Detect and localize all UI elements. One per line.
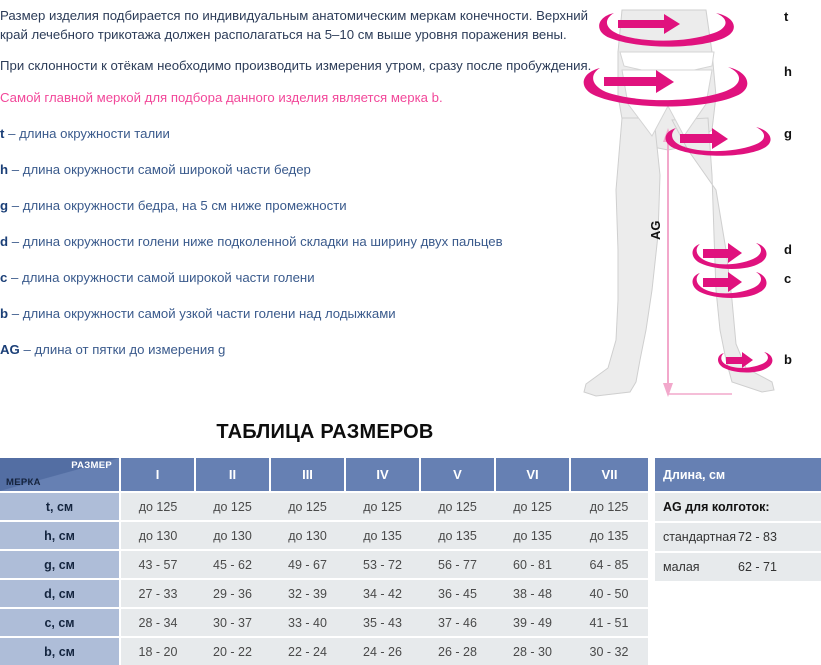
cell: до 135 [345,521,420,550]
column-header-4: IV [345,458,420,492]
intro-paragraph-1: Размер изделия подбирается по индивидуал… [0,0,600,44]
highlight-note: Самой главной меркой для подбора данного… [0,89,600,108]
legend-item-g: g – длина окружности бедра, на 5 см ниже… [0,198,600,214]
legend-key-g: g [0,198,8,213]
column-header-3: III [270,458,345,492]
size-chart-page: Размер изделия подбирается по индивидуал… [0,0,821,649]
column-header-6: VI [495,458,570,492]
length-section-label: AG для колготок: [655,492,821,522]
column-header-2: II [195,458,270,492]
length-row-value-small: 62 - 71 [738,552,821,581]
cell: 43 - 57 [120,550,195,579]
cell: 29 - 36 [195,579,270,608]
length-row-label-small: малая [655,552,738,581]
diagram-label-d: d [784,242,792,257]
length-table-header: Длина, см [655,458,821,492]
cell: 53 - 72 [345,550,420,579]
legend-item-ag: AG – длина от пятки до измерения g [0,342,600,358]
legend-text-b: длина окружности самой узкой части голен… [23,306,396,321]
row-label-c: c, см [0,608,120,637]
legend-item-b: b – длина окружности самой узкой части г… [0,306,600,322]
cell: 20 - 22 [195,637,270,665]
cell: до 135 [570,521,648,550]
cell: 24 - 26 [345,637,420,665]
band-c [693,272,767,298]
page-title: ТАБЛИЦА РАЗМЕРОВ [0,421,650,444]
cell: 26 - 28 [420,637,495,665]
cell: 18 - 20 [120,637,195,665]
legend-dash: – [12,162,19,177]
legend-key-c: c [0,270,7,285]
diagram-label-t: t [784,9,788,24]
legend-key-t: t [0,126,4,141]
cell: 45 - 62 [195,550,270,579]
table-row: c, см 28 - 34 30 - 37 33 - 40 35 - 43 37… [0,608,648,637]
cell: до 125 [420,492,495,521]
diagram-label-h: h [784,64,792,79]
diagram-label-b: b [784,352,792,367]
row-label-g: g, см [0,550,120,579]
cell: до 135 [495,521,570,550]
band-d [693,243,767,269]
leg-figure-svg [556,0,821,415]
leg-measurement-diagram: t h g d c b AG [556,0,821,415]
cell: до 130 [195,521,270,550]
corner-size-label: РАЗМЕР [71,460,112,471]
legend-item-t: t – длина окружности талии [0,126,600,142]
legend-text-h: длина окружности самой широкой части бед… [23,162,311,177]
table-row: b, см 18 - 20 20 - 22 22 - 24 24 - 26 26… [0,637,648,665]
measurement-legend: t – длина окружности талии h – длина окр… [0,126,600,358]
cell: 41 - 51 [570,608,648,637]
length-table-header-row: Длина, см [655,458,821,492]
cell: 56 - 77 [420,550,495,579]
size-table: РАЗМЕР МЕРКА I II III IV V VI VII t, см … [0,458,648,665]
table-row: h, см до 130 до 130 до 130 до 135 до 135… [0,521,648,550]
cell: 40 - 50 [570,579,648,608]
cell: до 130 [270,521,345,550]
cell: до 125 [195,492,270,521]
length-table-row: стандартная 72 - 83 [655,522,821,552]
cell: 32 - 39 [270,579,345,608]
legend-key-b: b [0,306,8,321]
row-label-b: b, см [0,637,120,665]
legend-text-d: длина окружности голени ниже подколенной… [23,234,503,249]
intro-paragraph-2: При склонности к отёкам необходимо произ… [0,57,600,76]
legend-key-d: d [0,234,8,249]
corner-header-cell: РАЗМЕР МЕРКА [0,458,120,492]
table-row: d, см 27 - 33 29 - 36 32 - 39 34 - 42 36… [0,579,648,608]
column-header-1: I [120,458,195,492]
legend-item-h: h – длина окружности самой широкой части… [0,162,600,178]
table-header-row: РАЗМЕР МЕРКА I II III IV V VI VII [0,458,648,492]
legend-dash: – [8,126,15,141]
column-header-5: V [420,458,495,492]
diagram-label-ag: AG [648,221,663,241]
length-table: Длина, см AG для колготок: стандартная 7… [655,458,821,581]
legend-item-d: d – длина окружности голени ниже подколе… [0,234,600,250]
cell: до 125 [120,492,195,521]
table-row: t, см до 125 до 125 до 125 до 125 до 125… [0,492,648,521]
cell: 37 - 46 [420,608,495,637]
cell: до 125 [570,492,648,521]
legend-item-c: c – длина окружности самой широкой части… [0,270,600,286]
legend-text-t: длина окружности талии [19,126,170,141]
cell: до 135 [420,521,495,550]
text-column: Размер изделия подбирается по индивидуал… [0,0,600,358]
cell: 35 - 43 [345,608,420,637]
cell: 28 - 30 [495,637,570,665]
legend-dash: – [12,306,19,321]
length-row-label-standard: стандартная [655,522,738,552]
legend-text-c: длина окружности самой широкой части гол… [22,270,315,285]
cell: 30 - 37 [195,608,270,637]
legend-text-ag: длина от пятки до измерения g [34,342,225,357]
length-row-value-standard: 72 - 83 [738,522,821,552]
legend-dash: – [12,234,19,249]
column-header-7: VII [570,458,648,492]
table-row: g, см 43 - 57 45 - 62 49 - 67 53 - 72 56… [0,550,648,579]
row-label-d: d, см [0,579,120,608]
cell: 28 - 34 [120,608,195,637]
cell: 22 - 24 [270,637,345,665]
cell: 34 - 42 [345,579,420,608]
cell: 39 - 49 [495,608,570,637]
diagram-label-c: c [784,271,791,286]
legend-key-h: h [0,162,8,177]
legend-dash: – [11,270,18,285]
diagram-label-g: g [784,126,792,141]
legend-dash: – [23,342,30,357]
cell: 36 - 45 [420,579,495,608]
legend-dash: – [12,198,19,213]
cell: 27 - 33 [120,579,195,608]
cell: 64 - 85 [570,550,648,579]
cell: до 125 [270,492,345,521]
length-table-section-row: AG для колготок: [655,492,821,522]
cell: до 130 [120,521,195,550]
cell: 49 - 67 [270,550,345,579]
cell: 60 - 81 [495,550,570,579]
cell: 30 - 32 [570,637,648,665]
row-label-t: t, см [0,492,120,521]
cell: 38 - 48 [495,579,570,608]
cell: до 125 [345,492,420,521]
row-label-h: h, см [0,521,120,550]
cell: 33 - 40 [270,608,345,637]
corner-measure-label: МЕРКА [6,477,41,488]
legend-key-ag: AG [0,342,20,357]
legend-text-g: длина окружности бедра, на 5 см ниже про… [23,198,347,213]
cell: до 125 [495,492,570,521]
length-table-row: малая 62 - 71 [655,552,821,581]
